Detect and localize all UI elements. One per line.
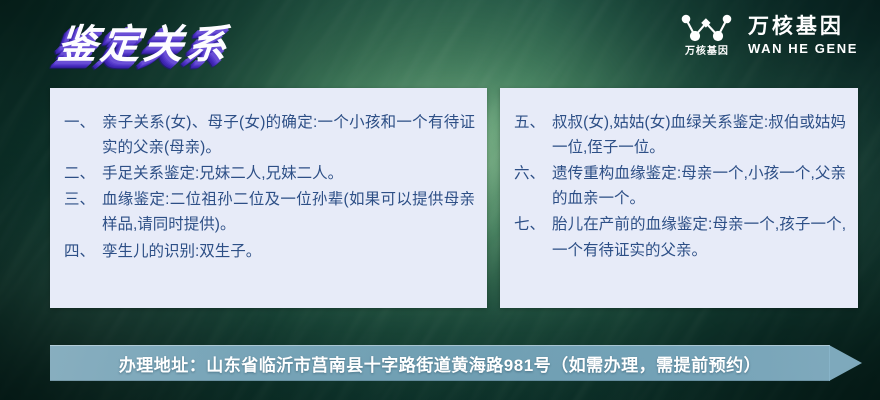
list-item: 五、 叔叔(女),姑姑(女)血绿关系鉴定:叔伯或姑妈一位,侄子一位。 bbox=[514, 110, 846, 160]
service-list-panel-left: 一、 亲子关系(女)、母子(女)的确定:一个小孩和一个有待证实的父亲(母亲)。 … bbox=[50, 88, 487, 308]
list-item-text: 血缘鉴定:二位祖孙二位及一位孙辈(如果可以提供母亲样品,请同时提供)。 bbox=[102, 187, 475, 237]
list-item-number: 三、 bbox=[64, 187, 102, 212]
list-item-text: 遗传重构血缘鉴定:母亲一个,小孩一个,父亲的血亲一个。 bbox=[552, 161, 846, 211]
address-banner-text: 办理地址：山东省临沂市莒南县十字路街道黄海路981号（如需办理，需提前预约） bbox=[50, 345, 830, 381]
list-item: 四、 孪生儿的识别:双生子。 bbox=[64, 239, 475, 264]
list-item-number: 二、 bbox=[64, 161, 102, 186]
header: 鉴定关系 bbox=[0, 0, 880, 86]
list-item-text: 孪生儿的识别:双生子。 bbox=[102, 239, 475, 264]
brand-wordmark: 万核基因 WAN HE GENE bbox=[748, 16, 858, 54]
molecule-node-icon bbox=[680, 14, 734, 44]
page-title: 鉴定关系 bbox=[55, 12, 233, 70]
brand-logo: 万核基因 万核基因 WAN HE GENE bbox=[680, 14, 858, 57]
list-item-text: 亲子关系(女)、母子(女)的确定:一个小孩和一个有待证实的父亲(母亲)。 bbox=[102, 110, 475, 160]
service-list-left: 一、 亲子关系(女)、母子(女)的确定:一个小孩和一个有待证实的父亲(母亲)。 … bbox=[64, 110, 475, 264]
list-item-text: 胎儿在产前的血缘鉴定:母亲一个,孩子一个,一个有待证实的父亲。 bbox=[552, 212, 846, 262]
list-item: 一、 亲子关系(女)、母子(女)的确定:一个小孩和一个有待证实的父亲(母亲)。 bbox=[64, 110, 475, 160]
poster-root: 鉴定关系 bbox=[0, 0, 880, 400]
list-item-number: 五、 bbox=[514, 110, 552, 135]
service-list-panel-right: 五、 叔叔(女),姑姑(女)血绿关系鉴定:叔伯或姑妈一位,侄子一位。 六、 遗传… bbox=[500, 88, 858, 308]
list-item-text: 叔叔(女),姑姑(女)血绿关系鉴定:叔伯或姑妈一位,侄子一位。 bbox=[552, 110, 846, 160]
brand-name-en: WAN HE GENE bbox=[748, 42, 858, 55]
address-banner-arrow-icon bbox=[829, 345, 862, 381]
list-item: 七、 胎儿在产前的血缘鉴定:母亲一个,孩子一个,一个有待证实的父亲。 bbox=[514, 212, 846, 262]
list-item-number: 一、 bbox=[64, 110, 102, 135]
service-list-right: 五、 叔叔(女),姑姑(女)血绿关系鉴定:叔伯或姑妈一位,侄子一位。 六、 遗传… bbox=[514, 110, 846, 263]
list-item-number: 六、 bbox=[514, 161, 552, 186]
list-item: 六、 遗传重构血缘鉴定:母亲一个,小孩一个,父亲的血亲一个。 bbox=[514, 161, 846, 211]
list-item-number: 七、 bbox=[514, 212, 552, 237]
list-item: 二、 手足关系鉴定:兄妹二人,兄妹二人。 bbox=[64, 161, 475, 186]
list-item-text: 手足关系鉴定:兄妹二人,兄妹二人。 bbox=[102, 161, 475, 186]
brand-mark-label: 万核基因 bbox=[685, 47, 729, 57]
brand-mark: 万核基因 bbox=[680, 14, 734, 57]
brand-name-cn: 万核基因 bbox=[748, 16, 858, 38]
list-item-number: 四、 bbox=[64, 239, 102, 264]
address-banner: 办理地址：山东省临沂市莒南县十字路街道黄海路981号（如需办理，需提前预约） bbox=[50, 345, 862, 381]
list-item: 三、 血缘鉴定:二位祖孙二位及一位孙辈(如果可以提供母亲样品,请同时提供)。 bbox=[64, 187, 475, 237]
